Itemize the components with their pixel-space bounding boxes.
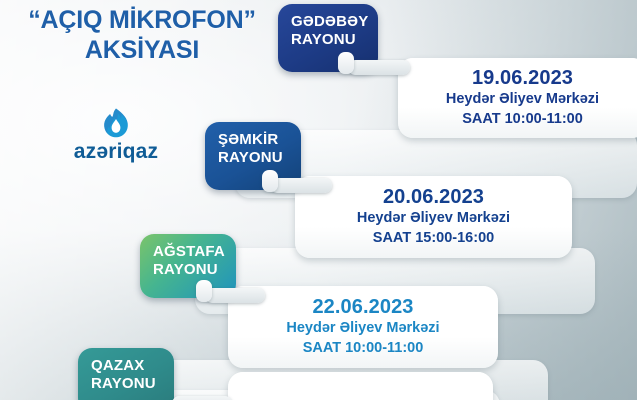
flame-icon bbox=[103, 108, 129, 138]
district-badge-3-line-2: RAYONU bbox=[153, 261, 224, 279]
district-badge-4-line-1: QAZAX bbox=[91, 357, 145, 374]
event-time-1: SAAT 10:00-11:00 bbox=[462, 110, 583, 130]
district-badge-3-line-1: AĞSTAFA bbox=[153, 243, 225, 260]
district-badge-1-line-1: GƏDƏBƏY bbox=[291, 13, 368, 30]
event-venue-1: Heydər Əliyev Mərkəzi bbox=[446, 90, 599, 110]
event-date-3: 22.06.2023 bbox=[312, 295, 413, 319]
logo-wordmark: azəriqaz bbox=[54, 140, 178, 164]
event-card-1[interactable]: 19.06.2023 Heydər Əliyev Mərkəzi SAAT 10… bbox=[398, 58, 637, 138]
event-date-1: 19.06.2023 bbox=[472, 66, 573, 90]
event-card-3[interactable]: 22.06.2023 Heydər Əliyev Mərkəzi SAAT 10… bbox=[228, 286, 498, 368]
event-card-2[interactable]: 20.06.2023 Heydər Əliyev Mərkəzi SAAT 15… bbox=[295, 176, 572, 258]
event-venue-2: Heydər Əliyev Mərkəzi bbox=[357, 209, 510, 229]
badge-connector-notch-2 bbox=[262, 170, 278, 192]
district-badge-2-line-2: RAYONU bbox=[218, 149, 289, 167]
event-card-4[interactable] bbox=[228, 372, 493, 400]
district-badge-2-line-1: ŞƏMKİR bbox=[218, 131, 278, 148]
headline-line-2: AKSİYASI bbox=[8, 36, 276, 66]
badge-connector-notch-3 bbox=[196, 280, 212, 302]
district-badge-1-line-2: RAYONU bbox=[291, 31, 366, 49]
poster-headline: “AÇIQ MİKROFON” AKSİYASI bbox=[8, 6, 276, 65]
badge-connector-notch-1 bbox=[338, 52, 354, 74]
district-badge-4[interactable]: QAZAX RAYONU bbox=[78, 348, 174, 400]
event-time-3: SAAT 10:00-11:00 bbox=[303, 339, 424, 359]
azeriqaz-logo: azəriqaz bbox=[54, 108, 178, 164]
event-date-2: 20.06.2023 bbox=[383, 185, 484, 209]
headline-line-1: “AÇIQ MİKROFON” bbox=[28, 6, 256, 34]
badge-connector-4 bbox=[172, 396, 232, 400]
event-time-2: SAAT 15:00-16:00 bbox=[373, 229, 494, 249]
badge-connector-2 bbox=[270, 178, 332, 193]
poster-canvas: “AÇIQ MİKROFON” AKSİYASI azəriqaz 19.06.… bbox=[0, 0, 637, 400]
district-badge-4-line-2: RAYONU bbox=[91, 375, 162, 393]
badge-connector-1 bbox=[348, 60, 410, 75]
badge-connector-3 bbox=[205, 288, 265, 303]
event-venue-3: Heydər Əliyev Mərkəzi bbox=[286, 319, 439, 339]
